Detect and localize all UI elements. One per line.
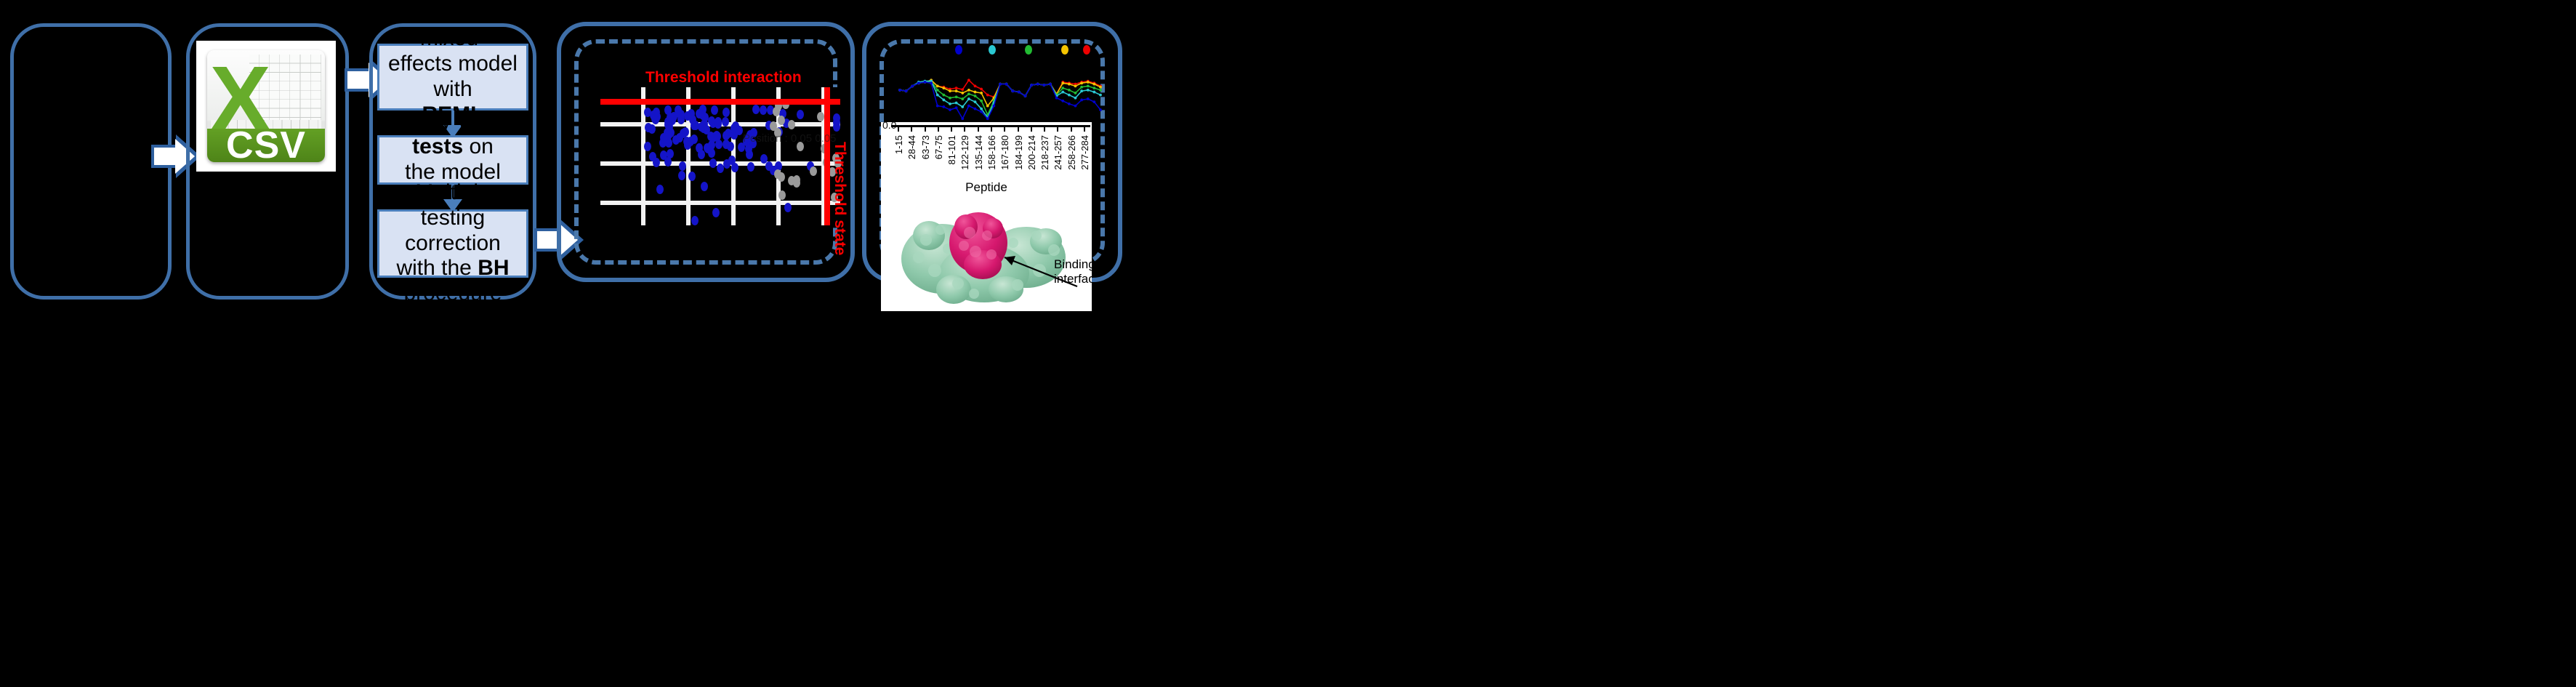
x-axis-tick: [1084, 125, 1085, 132]
scatter-point: [667, 113, 674, 122]
chart-marker: [917, 81, 920, 84]
scatter-point: [730, 124, 738, 133]
chart-marker: [1074, 85, 1077, 88]
chart-marker: [949, 89, 951, 92]
legend-dot-green: [1025, 45, 1032, 55]
x-axis-tick-label: 135-144: [973, 135, 984, 170]
scatter-plot: Position : 0.05 0.05: [600, 87, 840, 225]
chart-marker: [955, 106, 958, 109]
x-axis-tick-label: 67-75: [933, 135, 944, 159]
flowbox-fit-model: Fit a linear mixed- effects model with R…: [377, 44, 528, 111]
csv-icon-x-letter: X: [210, 53, 252, 118]
x-axis-tick: [1004, 125, 1005, 132]
x-axis-tick: [951, 125, 952, 132]
chart-marker: [961, 117, 964, 120]
chart-marker: [930, 81, 933, 84]
scatter-point: [688, 172, 696, 181]
chart-marker: [1037, 83, 1039, 86]
csv-icon-body: X CSV: [207, 50, 324, 163]
chart-marker: [1080, 99, 1083, 102]
scatter-point: [788, 120, 795, 129]
chart-marker: [980, 100, 983, 103]
chart-marker: [1099, 86, 1102, 89]
chart-marker: [898, 89, 901, 92]
chart-marker: [1061, 91, 1064, 94]
legend-dot-yellow: [1061, 45, 1068, 55]
chart-marker: [1042, 84, 1045, 87]
binding-interface-line1: Binding: [1054, 257, 1092, 272]
scatter-point: [648, 124, 656, 134]
chart-marker: [1018, 91, 1021, 94]
chart-marker: [961, 105, 964, 108]
chart-marker: [961, 97, 964, 100]
x-axis-tick-labels: 1-1528-4463-7367-7581-101122-129135-1441…: [891, 135, 1090, 177]
chart-marker: [936, 105, 939, 108]
x-axis-tick: [898, 125, 899, 132]
chart-marker: [955, 87, 958, 89]
peptide-chart-legend: [895, 45, 1106, 60]
x-axis-tick: [1071, 125, 1072, 132]
chart-marker: [1074, 92, 1077, 95]
scatter-point: [665, 130, 672, 140]
chart-marker: [980, 92, 983, 95]
chart-marker: [955, 102, 958, 105]
legend-dot-red: [1083, 45, 1090, 55]
csv-file-icon: X CSV: [196, 41, 336, 172]
x-axis-tick-label: 1-15: [893, 135, 904, 154]
x-axis-tick: [938, 125, 939, 132]
flowbox-bh-correction-text: Multiple testing correction with the BH …: [385, 180, 520, 307]
x-axis-tick-label: 81-101: [946, 135, 957, 164]
chart-marker: [1087, 97, 1090, 100]
chart-marker: [1099, 94, 1102, 97]
x-axis-tick-label: 28-44: [906, 135, 917, 159]
chart-marker: [974, 91, 977, 94]
chart-marker: [992, 105, 995, 108]
flowbox-bh-correction: Multiple testing correction with the BH …: [377, 209, 528, 278]
chart-marker: [967, 89, 970, 92]
chart-marker: [949, 103, 951, 105]
scatter-point: [752, 105, 760, 114]
scatter-point: [650, 111, 657, 120]
chart-marker: [1092, 91, 1095, 94]
chart-marker: [974, 95, 977, 97]
scatter-point: [793, 175, 800, 185]
protein-structure-image: [897, 198, 1079, 307]
chart-marker: [1080, 81, 1083, 84]
chart-marker: [1087, 85, 1090, 88]
chart-marker: [1092, 87, 1095, 89]
chart-marker: [924, 81, 927, 84]
chart-marker: [905, 89, 908, 92]
x-axis-tick-label: 277-284: [1079, 135, 1090, 170]
chart-marker: [980, 111, 983, 113]
chart-marker: [1068, 89, 1071, 92]
stage-1-panel: [10, 23, 172, 300]
chart-marker: [1068, 83, 1071, 86]
scatter-point: [678, 171, 685, 180]
chart-marker: [1049, 83, 1052, 86]
scatter-point: [747, 162, 754, 172]
chart-marker: [936, 89, 939, 92]
scatter-point: [659, 138, 667, 148]
scatter-point: [723, 108, 730, 117]
scatter-point: [810, 166, 817, 176]
x-axis-ticks: [891, 125, 1090, 134]
x-axis-tick: [911, 125, 912, 132]
binding-interface-annotation: Binding interface: [1054, 257, 1092, 286]
chart-marker: [1099, 108, 1102, 111]
chart-marker: [911, 85, 914, 88]
x-axis-tick: [991, 125, 992, 132]
x-axis-title: Peptide: [881, 180, 1092, 195]
x-axis-tick-label: 258-266: [1066, 135, 1077, 170]
x-axis-tick: [1044, 125, 1045, 132]
chart-marker: [986, 105, 989, 108]
chart-marker: [961, 88, 964, 91]
scatter-point: [649, 152, 656, 161]
scatter-point: [708, 140, 715, 150]
chart-marker: [967, 79, 970, 81]
x-axis-tick-label: 241-257: [1052, 135, 1063, 170]
chart-marker: [967, 105, 970, 108]
scatter-point: [746, 150, 753, 159]
scatter-point: [698, 122, 705, 132]
threshold-state-line: [824, 87, 830, 225]
peptide-chart-svg: [895, 65, 1106, 124]
scatter-point: [656, 185, 664, 194]
scatter-point: [679, 161, 686, 171]
x-axis-tick-label: 63-73: [920, 135, 931, 159]
scatter-point: [701, 182, 708, 191]
chart-marker: [1074, 105, 1077, 108]
scatter-point: [797, 110, 804, 119]
chart-marker: [1080, 86, 1083, 89]
chart-marker: [974, 100, 977, 103]
chart-marker: [1061, 87, 1064, 89]
scatter-point: [667, 149, 674, 158]
chart-marker: [936, 85, 939, 88]
peptide-line-chart: [895, 65, 1106, 124]
chart-marker: [1061, 81, 1064, 84]
scatter-point: [760, 105, 767, 115]
scatter-point: [722, 117, 729, 126]
x-axis-tick: [1018, 125, 1019, 132]
chart-marker: [949, 97, 951, 100]
chart-line-blue: [900, 82, 1100, 118]
scatter-point: [778, 190, 786, 200]
chart-marker: [999, 83, 1002, 86]
chart-marker: [986, 117, 989, 120]
scatter-point: [684, 111, 691, 121]
scatter-point: [696, 109, 703, 118]
x-axis-tick-label: 167-180: [999, 135, 1010, 170]
x-axis-tick: [964, 125, 965, 132]
scatter-point: [676, 133, 683, 142]
scatter-point: [712, 208, 720, 217]
chart-marker: [942, 87, 945, 89]
chart-marker: [1074, 97, 1077, 100]
chart-marker: [1080, 89, 1083, 92]
chart-marker: [942, 99, 945, 102]
chart-marker: [1068, 94, 1071, 97]
chart-marker: [986, 94, 989, 97]
legend-dot-blue: [955, 45, 962, 55]
chart-marker: [980, 108, 983, 111]
chart-marker: [942, 94, 945, 97]
threshold-interaction-label: Threshold interaction: [645, 69, 802, 87]
chart-marker: [974, 108, 977, 111]
chart-marker: [1011, 89, 1014, 92]
threshold-state-label: Threshold state: [831, 142, 848, 255]
chart-marker: [1055, 97, 1058, 100]
chart-marker: [955, 95, 958, 98]
x-axis-tick-label: 158-166: [986, 135, 997, 170]
x-axis-tick-label: 122-129: [959, 135, 970, 170]
chart-marker: [936, 94, 939, 97]
x-axis-tick-label: 184-199: [1013, 135, 1024, 170]
scatter-point: [711, 105, 718, 115]
x-axis-tick: [925, 125, 926, 132]
chart-marker: [1061, 100, 1064, 103]
chart-marker: [980, 88, 983, 91]
chart-marker: [1092, 100, 1095, 103]
chart-marker: [942, 105, 945, 108]
peptide-structure-card: 0.0 1-1528-4463-7367-7581-101122-129135-…: [881, 122, 1092, 311]
chart-line-cyan: [900, 81, 1100, 118]
chart-marker: [955, 89, 958, 92]
chart-marker: [1092, 83, 1095, 86]
x-axis-tick: [978, 125, 979, 132]
binding-interface-line2: interface: [1054, 272, 1092, 286]
chart-marker: [967, 92, 970, 95]
scatter-point: [687, 137, 694, 146]
chart-marker: [1099, 89, 1102, 92]
scatter-point: [727, 142, 734, 151]
scatter-point: [774, 169, 781, 179]
scatter-gridlines: [600, 87, 840, 225]
chart-marker: [949, 108, 951, 111]
x-axis-tick-label: 200-214: [1026, 135, 1037, 170]
scatter-point: [691, 216, 699, 225]
chart-marker: [974, 85, 977, 88]
scatter-ghost-axis-text: Position : 0.05 0.05: [743, 132, 836, 145]
x-axis-tick: [1031, 125, 1032, 132]
chart-marker: [1030, 84, 1033, 87]
chart-marker: [1024, 95, 1027, 97]
x-axis-tick: [1057, 125, 1058, 132]
scatter-point: [707, 132, 715, 141]
chart-marker: [961, 92, 964, 95]
chart-marker: [967, 97, 970, 100]
csv-icon-label: CSV: [207, 129, 324, 162]
scatter-point: [770, 121, 777, 131]
chart-marker: [1005, 83, 1008, 86]
scatter-point: [728, 156, 736, 165]
flowbox-wald-tests: Apply Wald tests on the model parameters: [377, 135, 528, 185]
chart-marker: [1068, 103, 1071, 105]
chart-marker: [1087, 81, 1090, 84]
scatter-point: [715, 117, 722, 126]
scatter-point: [817, 112, 824, 121]
x-axis-tick-label: 218-237: [1039, 135, 1050, 170]
legend-dot-cyan: [989, 45, 996, 55]
chart-marker: [1087, 89, 1090, 92]
threshold-interaction-line: [600, 99, 840, 105]
